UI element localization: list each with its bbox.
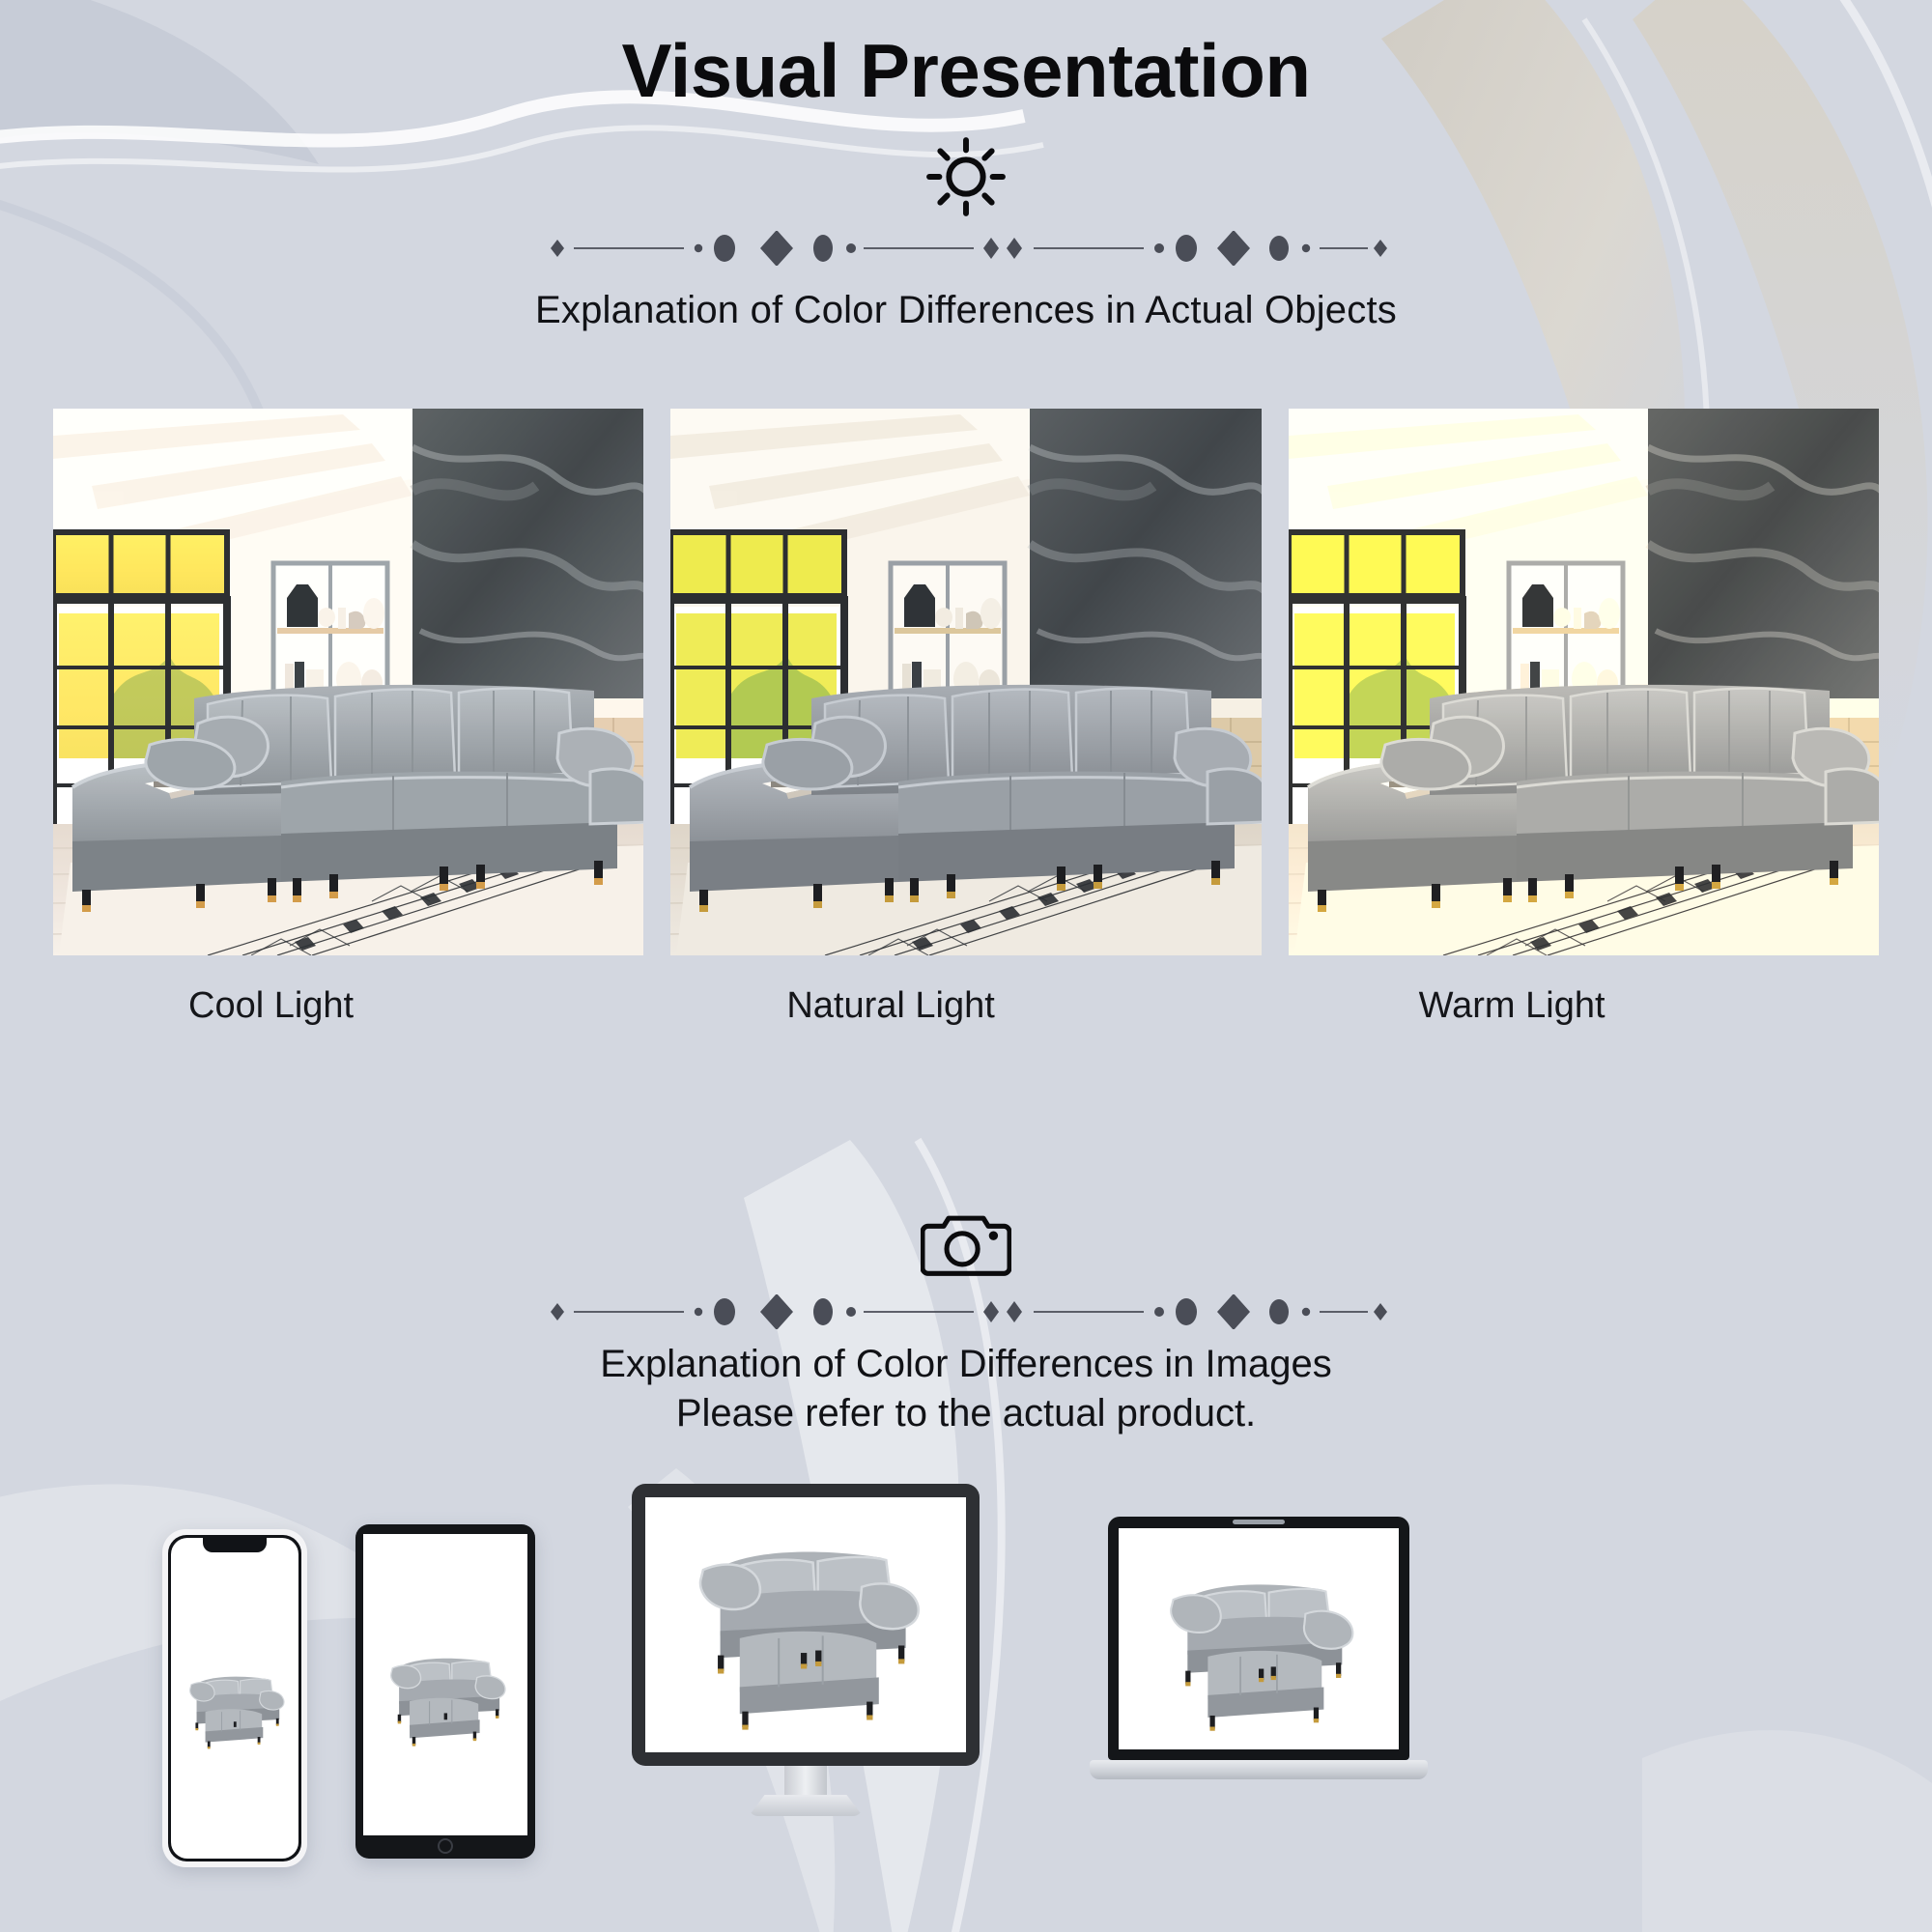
camera-icon-container [0,1204,1932,1281]
laptop-screen [1119,1528,1399,1749]
phone-product-image [171,1538,298,1859]
room-scene-warm-icon [1289,409,1879,955]
ornament-divider-top [0,231,1932,266]
ornament-divider-icon-2 [541,1294,1391,1329]
panel-labels: Cool Light Natural Light Warm Light [53,985,1879,1027]
monitor-stand-base [749,1795,863,1816]
scene-panel-warm [1289,409,1879,955]
sofa-product-icon [368,1622,523,1747]
camera-icon [921,1204,1011,1281]
sun-icon-container [0,132,1932,221]
device-phone [162,1529,307,1867]
tablet-product-image [363,1534,527,1835]
monitor-bezel [632,1484,980,1766]
monitor-stand-neck [784,1766,827,1799]
lighting-panels [53,409,1879,955]
monitor-screen [645,1497,966,1752]
phone-bezel [168,1535,301,1861]
images-explanation-block: Explanation of Color Differences in Imag… [0,1343,1932,1435]
room-scene-natural-icon [670,409,1261,955]
laptop-base [1090,1760,1428,1779]
images-explanation-line1: Explanation of Color Differences in Imag… [0,1343,1932,1386]
sofa-product-icon [1138,1543,1379,1736]
tablet-home-button[interactable] [438,1838,453,1854]
label-warm-light: Warm Light [1289,985,1879,1027]
device-tablet [355,1524,535,1859]
laptop-lid [1108,1517,1409,1760]
device-monitor [632,1484,980,1766]
label-natural-light-text: Natural Light [670,985,994,1026]
label-cool-light-text: Cool Light [53,985,354,1026]
sun-icon [922,132,1010,221]
sofa-product-icon [175,1645,295,1751]
scene-panel-natural [670,409,1261,955]
phone-screen [171,1538,298,1859]
label-natural-light: Natural Light [670,985,1261,1027]
monitor-product-image [645,1497,966,1752]
laptop-camera-icon [1233,1520,1285,1524]
laptop-product-image [1119,1528,1399,1749]
page-title: Visual Presentation [0,0,1932,115]
label-warm-light-text: Warm Light [1289,985,1605,1026]
tablet-screen [363,1534,527,1835]
room-scene-cool-icon [53,409,643,955]
images-explanation-line2: Please refer to the actual product. [0,1392,1932,1435]
section-subtitle-actual-objects: Explanation of Color Differences in Actu… [0,289,1932,332]
device-laptop [1090,1517,1428,1806]
device-mockups [0,1478,1932,1932]
phone-notch [203,1538,267,1552]
sofa-product-icon [661,1509,951,1741]
label-cool-light: Cool Light [53,985,643,1027]
scene-panel-cool [53,409,643,955]
ornament-divider-bottom [0,1294,1932,1329]
ornament-divider-icon [541,231,1391,266]
